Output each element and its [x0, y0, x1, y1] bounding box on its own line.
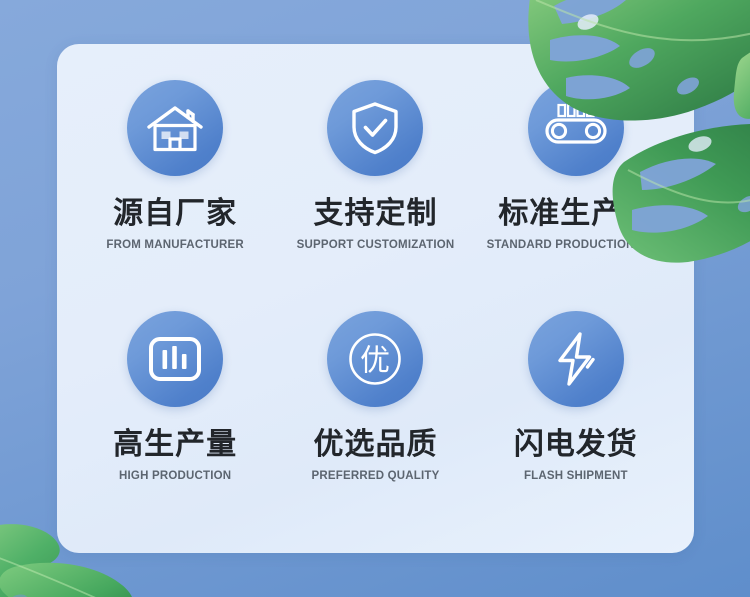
- feature-title-cn: 标准生产线: [498, 199, 653, 229]
- feature-title-cn: 支持定制: [313, 199, 437, 229]
- svg-text:优: 优: [360, 343, 390, 378]
- feature-title-cn: 源自厂家: [113, 199, 237, 229]
- promo-banner: 源自厂家 FROM MANUFACTURER 支持定制 SUPPORT CUST…: [0, 0, 750, 597]
- conveyor-belt-icon: [528, 80, 624, 176]
- feature-item-preferred-quality[interactable]: 优 优选品质 PREFERRED QUALITY: [275, 301, 475, 532]
- shield-check-icon: [327, 80, 423, 176]
- feature-item-from-manufacturer[interactable]: 源自厂家 FROM MANUFACTURER: [75, 70, 275, 301]
- house-icon: [127, 80, 223, 176]
- feature-title-en: STANDARD PRODUCTION LINE: [487, 240, 665, 252]
- you-badge-icon: 优: [327, 311, 423, 407]
- feature-title-en: PREFERRED QUALITY: [311, 471, 439, 483]
- feature-title-en: FLASH SHIPMENT: [524, 471, 628, 483]
- lightning-bolt-icon: [528, 311, 624, 407]
- feature-grid: 源自厂家 FROM MANUFACTURER 支持定制 SUPPORT CUST…: [57, 44, 694, 553]
- feature-item-standard-production-line[interactable]: 标准生产线 STANDARD PRODUCTION LINE: [476, 70, 676, 301]
- feature-title-cn: 闪电发货: [514, 430, 638, 460]
- feature-title-en: FROM MANUFACTURER: [106, 240, 244, 252]
- feature-title-en: HIGH PRODUCTION: [119, 471, 231, 483]
- feature-item-support-customization[interactable]: 支持定制 SUPPORT CUSTOMIZATION: [275, 70, 475, 301]
- feature-title-cn: 高生产量: [113, 430, 237, 460]
- feature-title-cn: 优选品质: [313, 430, 437, 460]
- feature-title-en: SUPPORT CUSTOMIZATION: [297, 240, 455, 252]
- feature-item-flash-shipment[interactable]: 闪电发货 FLASH SHIPMENT: [476, 301, 676, 532]
- bar-chart-icon: [127, 311, 223, 407]
- feature-item-high-production[interactable]: 高生产量 HIGH PRODUCTION: [75, 301, 275, 532]
